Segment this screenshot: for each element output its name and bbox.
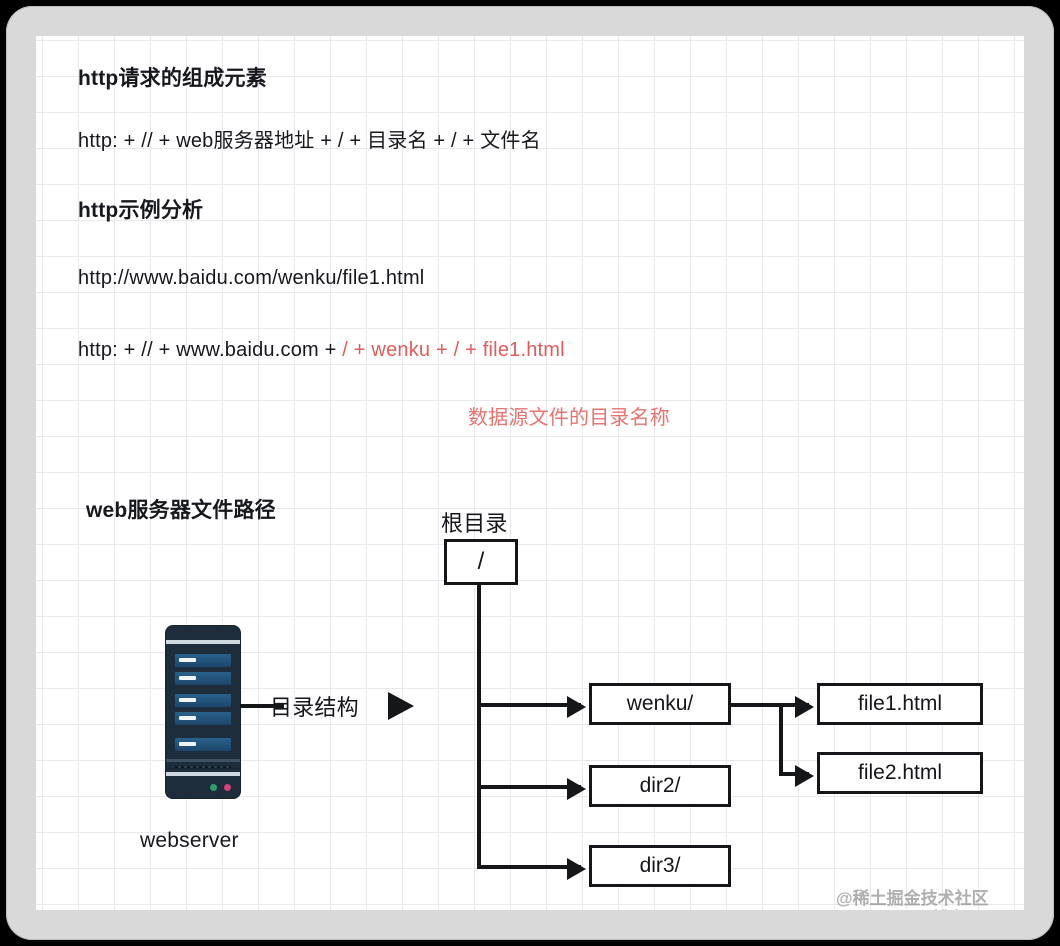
branch-arrow-dir3-icon	[567, 858, 586, 880]
webserver-icon-base	[166, 769, 240, 798]
tree-node-dir2[interactable]: dir2/	[589, 765, 731, 807]
branch-arrow-dir2-icon	[567, 778, 586, 800]
tree-node-root[interactable]: /	[444, 539, 518, 585]
tree-node-file1[interactable]: file1.html	[817, 683, 983, 725]
tree-trunk-line	[477, 585, 481, 869]
annotation-directory-name: 数据源文件的目录名称	[468, 401, 670, 430]
branch-arrow-wenku-icon	[567, 696, 586, 718]
watermark-primary: @稀土掘金技术社区	[836, 884, 989, 909]
server-led-green-icon	[210, 784, 217, 791]
branch-line-dir2	[477, 785, 581, 789]
tree-node-dir3[interactable]: dir3/	[589, 845, 731, 887]
outer-frame: http请求的组成元素 http: + // + web服务器地址 + / + …	[6, 6, 1054, 940]
heading-http-example: http示例分析	[78, 194, 203, 224]
branch-line-wenku	[477, 703, 581, 707]
server-led-pink-icon	[224, 784, 231, 791]
grid-canvas: http请求的组成元素 http: + // + web服务器地址 + / + …	[36, 36, 1024, 910]
heading-http-elements: http请求的组成元素	[78, 62, 267, 92]
branch-line-dir3	[477, 865, 581, 869]
url-breakdown-black: http: + // + www.baidu.com +	[78, 339, 342, 361]
tree-node-wenku[interactable]: wenku/	[589, 683, 731, 725]
watermark-secondary: @51CTO博客	[866, 904, 965, 910]
url-breakdown-red: / + wenku + / + file1.html	[342, 339, 565, 361]
url-breakdown: http: + // + www.baidu.com + / + wenku +…	[78, 339, 565, 362]
wenku-out-line	[731, 703, 783, 707]
screenshot-root: http请求的组成元素 http: + // + web服务器地址 + / + …	[0, 0, 1060, 946]
root-caption: 根目录	[441, 506, 508, 538]
file1-arrow-icon	[795, 696, 814, 718]
tree-node-file2[interactable]: file2.html	[817, 752, 983, 794]
flow-label-directory-structure: 目录结构	[270, 690, 359, 722]
example-url-text: http://www.baidu.com/wenku/file1.html	[78, 267, 424, 290]
heading-file-path: web服务器文件路径	[86, 494, 276, 524]
http-formula-text: http: + // + web服务器地址 + / + 目录名 + / + 文件…	[78, 124, 541, 153]
webserver-label: webserver	[140, 829, 239, 853]
wenku-split-line	[779, 703, 783, 776]
flow-arrow-icon	[388, 692, 414, 720]
file2-arrow-icon	[795, 765, 814, 787]
